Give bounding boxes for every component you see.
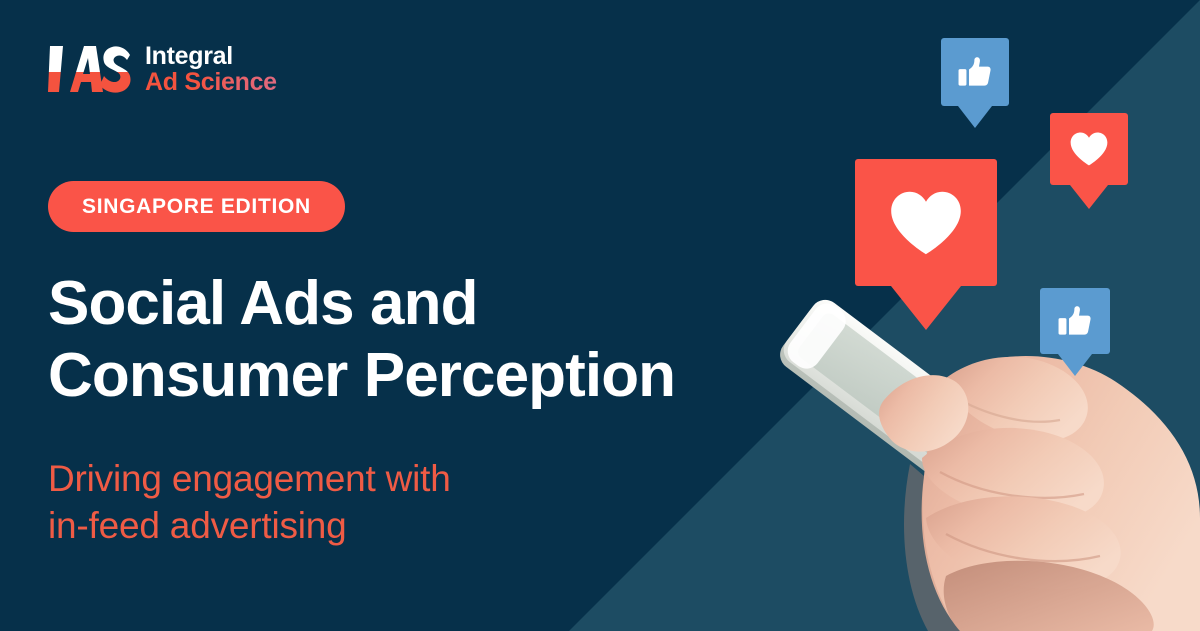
ias-logo-wordmark: Integral Ad Science: [145, 42, 277, 95]
ias-monogram-icon: [48, 42, 132, 96]
bubble-tail: [1070, 185, 1108, 209]
bubble-tail: [891, 286, 961, 330]
bubble-body: [855, 159, 997, 286]
bubble-body: [941, 38, 1009, 106]
headline-line-2: Consumer Perception: [48, 340, 675, 412]
bubble-tail: [958, 106, 992, 128]
ias-logo[interactable]: Integral Ad Science: [48, 42, 277, 96]
reaction-bubble-like-bottom: [1040, 288, 1110, 376]
reaction-bubble-heart-small: [1050, 113, 1128, 209]
page-subtitle: Driving engagement with in-feed advertis…: [48, 455, 451, 550]
bubble-body: [1040, 288, 1110, 354]
subhead-line-1: Driving engagement with: [48, 458, 451, 499]
headline-line-1: Social Ads and: [48, 269, 478, 338]
logo-line-ad-science: Ad Science: [145, 69, 277, 95]
edition-badge: SINGAPORE EDITION: [48, 181, 345, 232]
subhead-line-2: in-feed advertising: [48, 502, 451, 549]
marketing-banner: Integral Ad Science SINGAPORE EDITION So…: [0, 0, 1200, 631]
heart-icon: [1068, 130, 1110, 168]
heart-icon: [886, 187, 966, 259]
page-title: Social Ads and Consumer Perception: [48, 268, 675, 412]
bubble-body: [1050, 113, 1128, 185]
reaction-bubble-like-top: [941, 38, 1009, 128]
reaction-bubble-heart-large: [855, 159, 997, 330]
thumbs-up-icon: [1056, 302, 1094, 340]
logo-line-integral: Integral: [145, 43, 277, 69]
bubble-tail: [1058, 354, 1092, 376]
thumbs-up-icon: [956, 53, 994, 91]
